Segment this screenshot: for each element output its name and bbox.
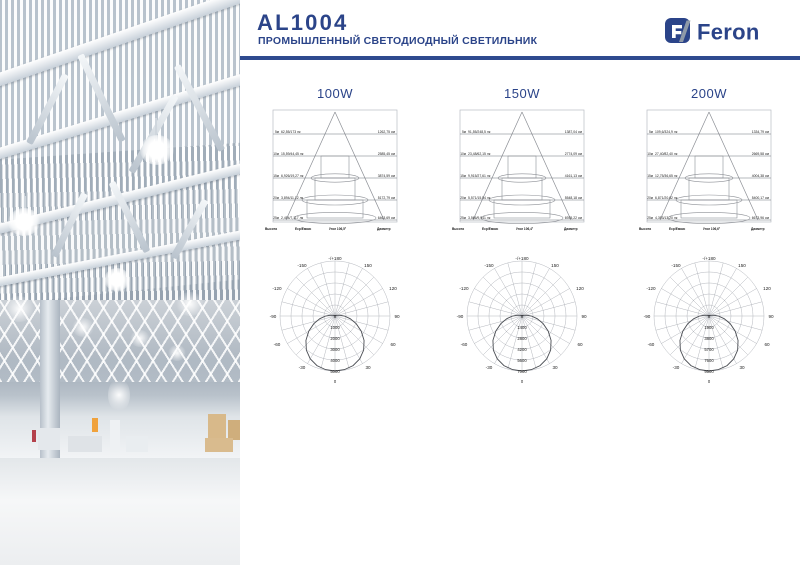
- svg-text:Угол 106,4°: Угол 106,4°: [516, 227, 534, 231]
- svg-text:91,55/248,5 лк: 91,55/248,5 лк: [468, 130, 491, 134]
- svg-text:-120: -120: [646, 286, 656, 291]
- product-application-photo: [0, 0, 240, 565]
- svg-text:0: 0: [708, 379, 711, 384]
- svg-text:4004,38 см: 4004,38 см: [752, 174, 770, 178]
- svg-text:Высота: Высота: [639, 227, 651, 231]
- polar-diagram-200w: 0 1900 3800 5700 7600 9500 0 -/+180 -150…: [624, 254, 794, 394]
- ceiling-lamp: [8, 208, 40, 236]
- power-block-100w: 100W: [242, 62, 428, 407]
- svg-text:0: 0: [334, 379, 337, 384]
- svg-text:-90: -90: [644, 314, 651, 319]
- svg-text:62,55/173 лк: 62,55/173 лк: [281, 130, 301, 134]
- svg-text:10м: 10м: [647, 152, 653, 156]
- svg-text:Диаметр: Диаметр: [751, 227, 765, 231]
- svg-text:5600: 5600: [517, 358, 527, 363]
- svg-text:2800: 2800: [517, 336, 527, 341]
- ceiling-lamp: [72, 318, 94, 337]
- svg-text:Высота: Высота: [265, 227, 277, 231]
- svg-text:27,40/82,40 лк: 27,40/82,40 лк: [655, 152, 678, 156]
- svg-text:-/+180: -/+180: [702, 256, 716, 261]
- svg-text:2669,58 см: 2669,58 см: [752, 152, 770, 156]
- power-block-200w: 200W: [616, 62, 800, 407]
- svg-text:15м: 15м: [273, 174, 279, 178]
- svg-text:6935,22 см: 6935,22 см: [565, 216, 583, 220]
- floor-object: [126, 436, 148, 452]
- svg-text:2585,45 см: 2585,45 см: [378, 152, 396, 156]
- ceiling-lamp: [140, 135, 174, 165]
- svg-text:60: 60: [577, 342, 583, 347]
- svg-text:9500: 9500: [704, 369, 714, 374]
- svg-text:0: 0: [521, 379, 524, 384]
- ceiling-lamp: [108, 378, 130, 412]
- svg-text:Угол 106,5°: Угол 106,5°: [329, 227, 347, 231]
- svg-text:25м: 25м: [647, 216, 653, 220]
- warehouse-roof-truss: [0, 300, 240, 382]
- svg-text:Feron: Feron: [697, 20, 760, 45]
- polar-diagram-100w: 0 1000 2000 3000 4000 5000 0 -/+180 -150: [250, 254, 420, 394]
- svg-text:23,48/62,15 лк: 23,48/62,15 лк: [468, 152, 491, 156]
- svg-text:3874,59 см: 3874,59 см: [378, 174, 396, 178]
- svg-text:25м: 25м: [273, 216, 279, 220]
- header-divider: [240, 56, 800, 60]
- page-subtitle: ПРОМЫШЛЕННЫЙ СВЕТОДИОДНЫЙ СВЕТИЛЬНИК: [258, 35, 537, 47]
- feron-logo: Feron: [664, 16, 782, 46]
- floor-object: [68, 436, 102, 452]
- datasheet-content: AL1004 ПРОМЫШЛЕННЫЙ СВЕТОДИОДНЫЙ СВЕТИЛЬ…: [240, 0, 800, 565]
- svg-text:109,6/324,9 лк: 109,6/324,9 лк: [655, 130, 678, 134]
- svg-text:2,494/7,117 лк: 2,494/7,117 лк: [281, 216, 304, 220]
- page-header: AL1004 ПРОМЫШЛЕННЫЙ СВЕТОДИОДНЫЙ СВЕТИЛЬ…: [240, 0, 800, 58]
- svg-text:6,926/19,27 лк: 6,926/19,27 лк: [281, 174, 304, 178]
- svg-text:-30: -30: [486, 365, 493, 370]
- ceiling-lamp: [104, 268, 130, 291]
- diagram-columns: 100W: [240, 62, 800, 407]
- svg-text:1400: 1400: [517, 325, 527, 330]
- svg-text:9,915/27,61 лк: 9,915/27,61 лк: [468, 174, 491, 178]
- feron-logo-mark: Feron: [664, 16, 782, 46]
- svg-text:20м: 20м: [647, 196, 653, 200]
- svg-text:20м: 20м: [273, 196, 279, 200]
- svg-text:-60: -60: [648, 342, 655, 347]
- page-root: AL1004 ПРОМЫШЛЕННЫЙ СВЕТОДИОДНЫЙ СВЕТИЛЬ…: [0, 0, 800, 565]
- svg-text:3,894/11,12 лк: 3,894/11,12 лк: [281, 196, 304, 200]
- svg-text:90: 90: [394, 314, 400, 319]
- svg-text:5,571/15,54 лк: 5,571/15,54 лк: [468, 196, 491, 200]
- svg-text:-30: -30: [673, 365, 680, 370]
- power-label-200w: 200W: [616, 86, 800, 101]
- svg-text:4161,13 см: 4161,13 см: [565, 174, 583, 178]
- svg-text:10м: 10м: [460, 152, 466, 156]
- polar-diagram-150w: 0 1400 2800 4200 5600 7000 0 -/+180 -150…: [437, 254, 607, 394]
- svg-text:-90: -90: [270, 314, 277, 319]
- svg-text:5м: 5м: [462, 130, 466, 134]
- svg-text:4000: 4000: [330, 358, 340, 363]
- page-title: AL1004: [257, 10, 348, 36]
- svg-text:-/+180: -/+180: [515, 256, 529, 261]
- svg-text:150: 150: [551, 263, 559, 268]
- svg-text:3,566/9,941 лк: 3,566/9,941 лк: [468, 216, 491, 220]
- svg-text:4,393/13,20 лк: 4,393/13,20 лк: [655, 216, 678, 220]
- svg-text:20м: 20м: [460, 196, 466, 200]
- svg-text:3000: 3000: [330, 347, 340, 352]
- power-label-100w: 100W: [242, 86, 428, 101]
- floor-object: [92, 418, 98, 432]
- svg-text:Угол 106,6°: Угол 106,6°: [703, 227, 721, 231]
- svg-text:-150: -150: [297, 263, 307, 268]
- cardboard-box: [228, 420, 240, 440]
- cardboard-box: [208, 414, 226, 438]
- svg-text:7000: 7000: [517, 369, 527, 374]
- svg-text:-90: -90: [457, 314, 464, 319]
- svg-text:-/+180: -/+180: [328, 256, 342, 261]
- svg-text:12,75/36,65 лк: 12,75/36,65 лк: [655, 174, 678, 178]
- floor-object: [38, 428, 60, 450]
- svg-text:7600: 7600: [704, 358, 714, 363]
- svg-text:15м: 15м: [460, 174, 466, 178]
- ceiling-lamp: [176, 292, 204, 316]
- svg-text:150: 150: [364, 263, 372, 268]
- svg-text:5м: 5м: [275, 130, 279, 134]
- svg-text:1334,79 см: 1334,79 см: [752, 130, 770, 134]
- svg-text:6673,96 см: 6673,96 см: [752, 216, 770, 220]
- svg-text:Высота: Высота: [452, 227, 464, 231]
- ceiling-lamp: [4, 296, 34, 322]
- svg-text:10м: 10м: [273, 152, 279, 156]
- svg-text:15,59/44,45 лк: 15,59/44,45 лк: [281, 152, 304, 156]
- svg-text:-60: -60: [461, 342, 468, 347]
- svg-text:5000: 5000: [330, 369, 340, 374]
- svg-text:2000: 2000: [330, 336, 340, 341]
- svg-text:2774,09 см: 2774,09 см: [565, 152, 583, 156]
- power-label-150w: 150W: [429, 86, 615, 101]
- svg-text:30: 30: [552, 365, 558, 370]
- cardboard-box: [205, 438, 233, 452]
- svg-text:Еср/Емакс: Еср/Емакс: [482, 227, 498, 231]
- svg-text:5м: 5м: [649, 130, 653, 134]
- svg-text:Диаметр: Диаметр: [377, 227, 391, 231]
- ceiling-lamp: [130, 330, 150, 347]
- svg-text:-150: -150: [484, 263, 494, 268]
- svg-text:-60: -60: [274, 342, 281, 347]
- cone-diagram-150w: 91,55/248,5 лк 23,48/62,15 лк 9,915/27,6…: [442, 108, 602, 238]
- svg-text:120: 120: [576, 286, 584, 291]
- floor-object: [110, 420, 120, 452]
- svg-text:1387,04 см: 1387,04 см: [565, 130, 583, 134]
- svg-text:150: 150: [738, 263, 746, 268]
- ceiling-lamp: [168, 345, 186, 361]
- svg-text:Еср/Емакс: Еср/Емакс: [295, 227, 311, 231]
- svg-text:30: 30: [739, 365, 745, 370]
- svg-text:120: 120: [763, 286, 771, 291]
- svg-text:-120: -120: [272, 286, 282, 291]
- worker-figure: [32, 430, 36, 442]
- svg-text:90: 90: [768, 314, 774, 319]
- svg-text:120: 120: [389, 286, 397, 291]
- power-block-150w: 150W: [429, 62, 615, 407]
- svg-text:25м: 25м: [460, 216, 466, 220]
- svg-text:1000: 1000: [330, 325, 340, 330]
- svg-text:-120: -120: [459, 286, 469, 291]
- svg-text:-30: -30: [299, 365, 306, 370]
- svg-text:60: 60: [764, 342, 770, 347]
- svg-text:Диаметр: Диаметр: [564, 227, 578, 231]
- cone-diagram-200w: 109,6/324,9 лк 27,40/82,40 лк 12,75/36,6…: [629, 108, 789, 238]
- svg-text:-150: -150: [671, 263, 681, 268]
- svg-text:5400,17 см: 5400,17 см: [752, 196, 770, 200]
- cone-diagram-100w: 62,55/173 лк 15,59/44,45 лк 6,926/19,27 …: [255, 108, 415, 238]
- svg-text:6,871/20,62 лк: 6,871/20,62 лк: [655, 196, 678, 200]
- svg-text:1262,75 см: 1262,75 см: [378, 130, 396, 134]
- svg-text:6463,69 см: 6463,69 см: [378, 216, 396, 220]
- svg-text:Еср/Емакс: Еср/Емакс: [669, 227, 685, 231]
- svg-text:5700: 5700: [704, 347, 714, 352]
- svg-text:30: 30: [365, 365, 371, 370]
- warehouse-floor: [0, 458, 240, 565]
- svg-text:1900: 1900: [704, 325, 714, 330]
- svg-text:5172,79 см: 5172,79 см: [378, 196, 396, 200]
- svg-text:5548,18 см: 5548,18 см: [565, 196, 583, 200]
- svg-text:90: 90: [581, 314, 587, 319]
- svg-text:3800: 3800: [704, 336, 714, 341]
- svg-text:15м: 15м: [647, 174, 653, 178]
- svg-text:4200: 4200: [517, 347, 527, 352]
- svg-text:60: 60: [390, 342, 396, 347]
